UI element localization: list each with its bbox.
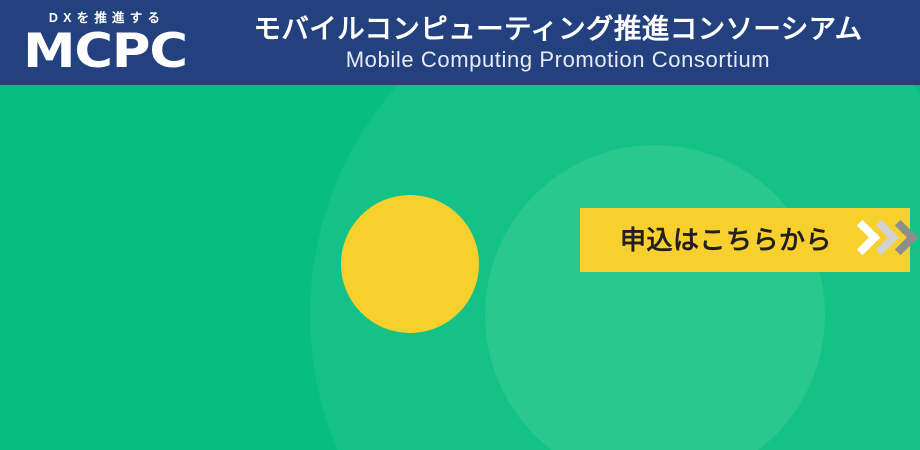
header-title-group: モバイルコンピューティング推進コンソーシアム Mobile Computing …: [196, 0, 920, 85]
organization-title-japanese: モバイルコンピューティング推進コンソーシアム: [253, 13, 862, 45]
chevron-group: [850, 220, 907, 260]
decorative-yellow-circle: [341, 195, 479, 333]
mcpc-logo[interactable]: DXを推進する MCPC: [14, 4, 196, 78]
apply-here-button[interactable]: 申込はこちらから: [580, 208, 910, 272]
site-header: DXを推進する MCPC モバイルコンピューティング推進コンソーシアム Mobi…: [0, 0, 920, 85]
hero-stage: 申込はこちらから: [0, 85, 920, 450]
chevron-right-icon-3: [888, 220, 910, 260]
logo-tagline: DXを推進する: [14, 4, 196, 25]
organization-title-english: Mobile Computing Promotion Consortium: [346, 47, 770, 72]
apply-here-button-label: 申込はこちらから: [620, 227, 832, 253]
mcpc-event-banner: DXを推進する MCPC モバイルコンピューティング推進コンソーシアム Mobi…: [0, 0, 920, 450]
logo-wordmark: MCPC: [3, 25, 207, 75]
